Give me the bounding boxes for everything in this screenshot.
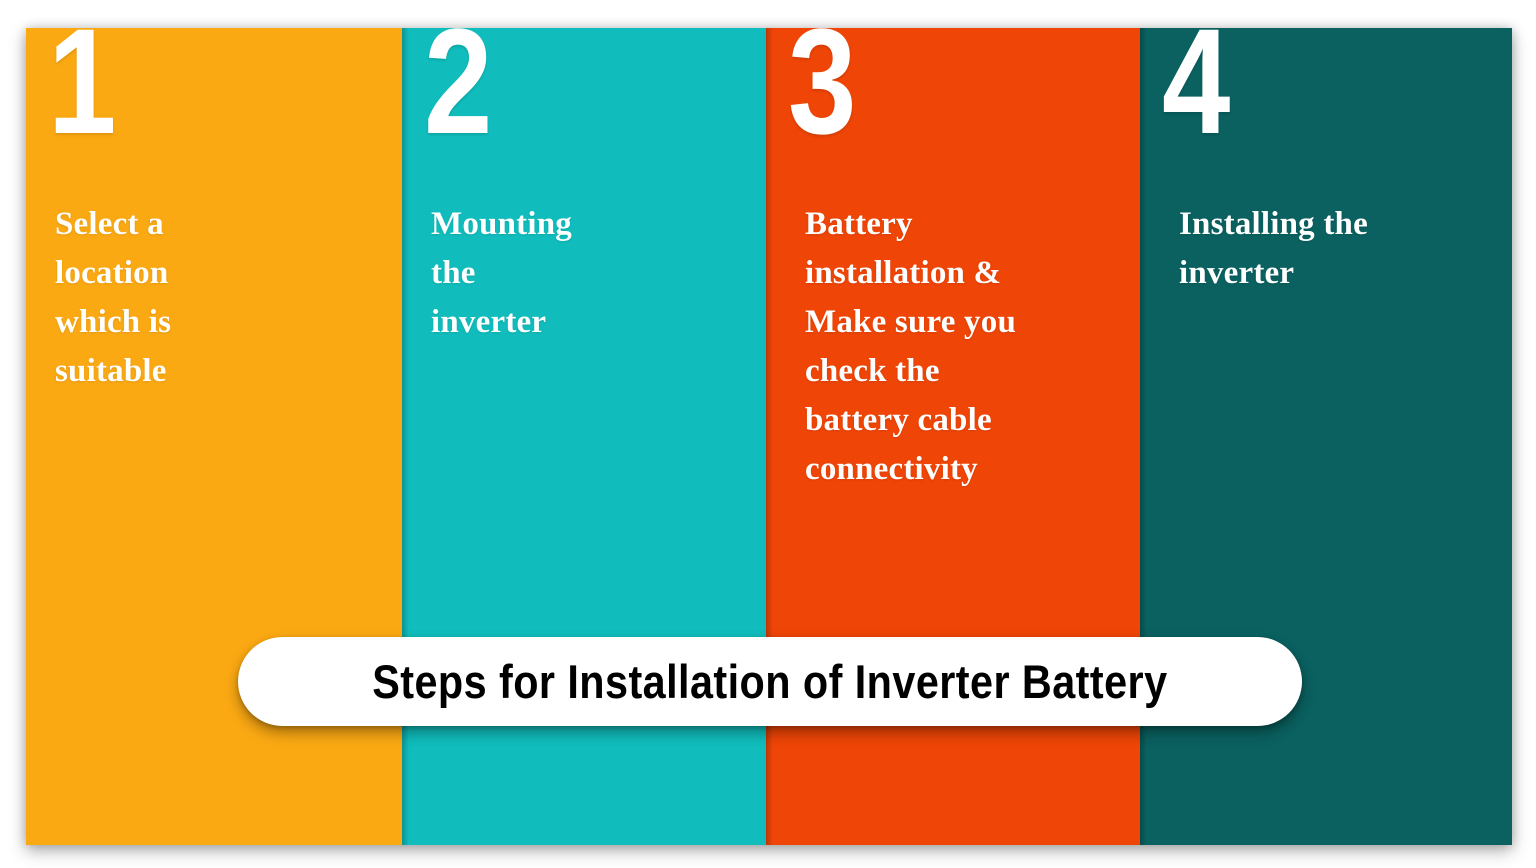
step-text-2: Mounting the inverter bbox=[431, 200, 744, 347]
step-number-3: 3 bbox=[788, 28, 855, 156]
step-number-4: 4 bbox=[1162, 28, 1229, 156]
title-banner: Steps for Installation of Inverter Batte… bbox=[238, 637, 1302, 726]
steps-infographic: 1 Select a location which is suitable 2 … bbox=[0, 0, 1536, 868]
step-number-1: 1 bbox=[48, 28, 115, 156]
step-text-4: Installing the inverter bbox=[1179, 200, 1490, 298]
step-text-3: Battery installation & Make sure you che… bbox=[805, 200, 1118, 494]
step-text-1: Select a location which is suitable bbox=[55, 200, 380, 396]
title-banner-label: Steps for Installation of Inverter Batte… bbox=[372, 658, 1167, 705]
step-number-2: 2 bbox=[424, 28, 491, 156]
